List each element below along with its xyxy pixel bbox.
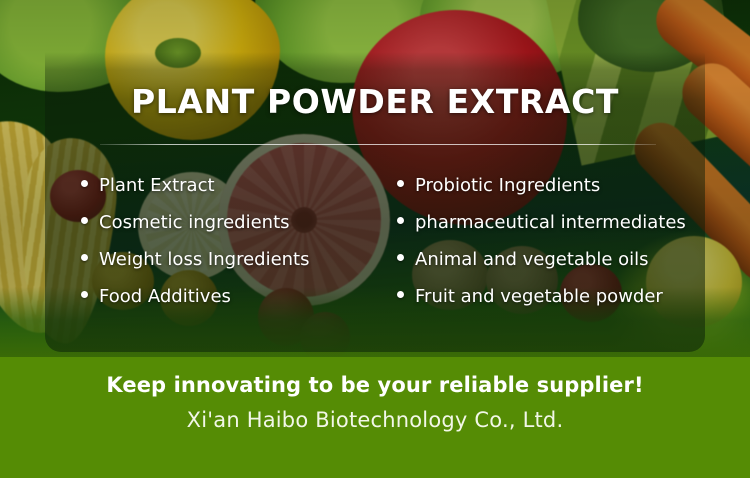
bullet-dot-icon	[81, 180, 88, 187]
list-item: Cosmetic ingredients	[81, 213, 381, 250]
feature-list: Plant Extract Cosmetic ingredients Weigh…	[45, 176, 705, 324]
list-item: Fruit and vegetable powder	[397, 287, 721, 324]
feature-column-left: Plant Extract Cosmetic ingredients Weigh…	[45, 176, 381, 324]
bullet-dot-icon	[81, 217, 88, 224]
bullet-dot-icon	[397, 254, 404, 261]
list-item-label: Probiotic Ingredients	[415, 176, 600, 196]
bullet-dot-icon	[81, 254, 88, 261]
feature-column-right: Probiotic Ingredients pharmaceutical int…	[381, 176, 721, 324]
footer-band: Keep innovating to be your reliable supp…	[0, 357, 750, 478]
list-item-label: Food Additives	[99, 287, 231, 307]
list-item: Weight loss Ingredients	[81, 250, 381, 287]
list-item: Probiotic Ingredients	[397, 176, 721, 213]
list-item-label: pharmaceutical intermediates	[415, 213, 686, 233]
title-divider	[100, 144, 656, 145]
list-item-label: Plant Extract	[99, 176, 215, 196]
bullet-dot-icon	[397, 180, 404, 187]
promo-banner: PLANT POWDER EXTRACT Plant Extract Cosme…	[0, 0, 750, 478]
list-item-label: Cosmetic ingredients	[99, 213, 290, 233]
list-item-label: Animal and vegetable oils	[415, 250, 649, 270]
list-item: Food Additives	[81, 287, 381, 324]
list-item: pharmaceutical intermediates	[397, 213, 721, 250]
list-item-label: Fruit and vegetable powder	[415, 287, 663, 307]
page-title: PLANT POWDER EXTRACT	[45, 82, 705, 121]
list-item: Plant Extract	[81, 176, 381, 213]
company-name: Xi'an Haibo Biotechnology Co., Ltd.	[0, 408, 750, 432]
footer-tagline: Keep innovating to be your reliable supp…	[0, 373, 750, 397]
list-item-label: Weight loss Ingredients	[99, 250, 310, 270]
bullet-dot-icon	[81, 291, 88, 298]
bullet-dot-icon	[397, 291, 404, 298]
list-item: Animal and vegetable oils	[397, 250, 721, 287]
bullet-dot-icon	[397, 217, 404, 224]
